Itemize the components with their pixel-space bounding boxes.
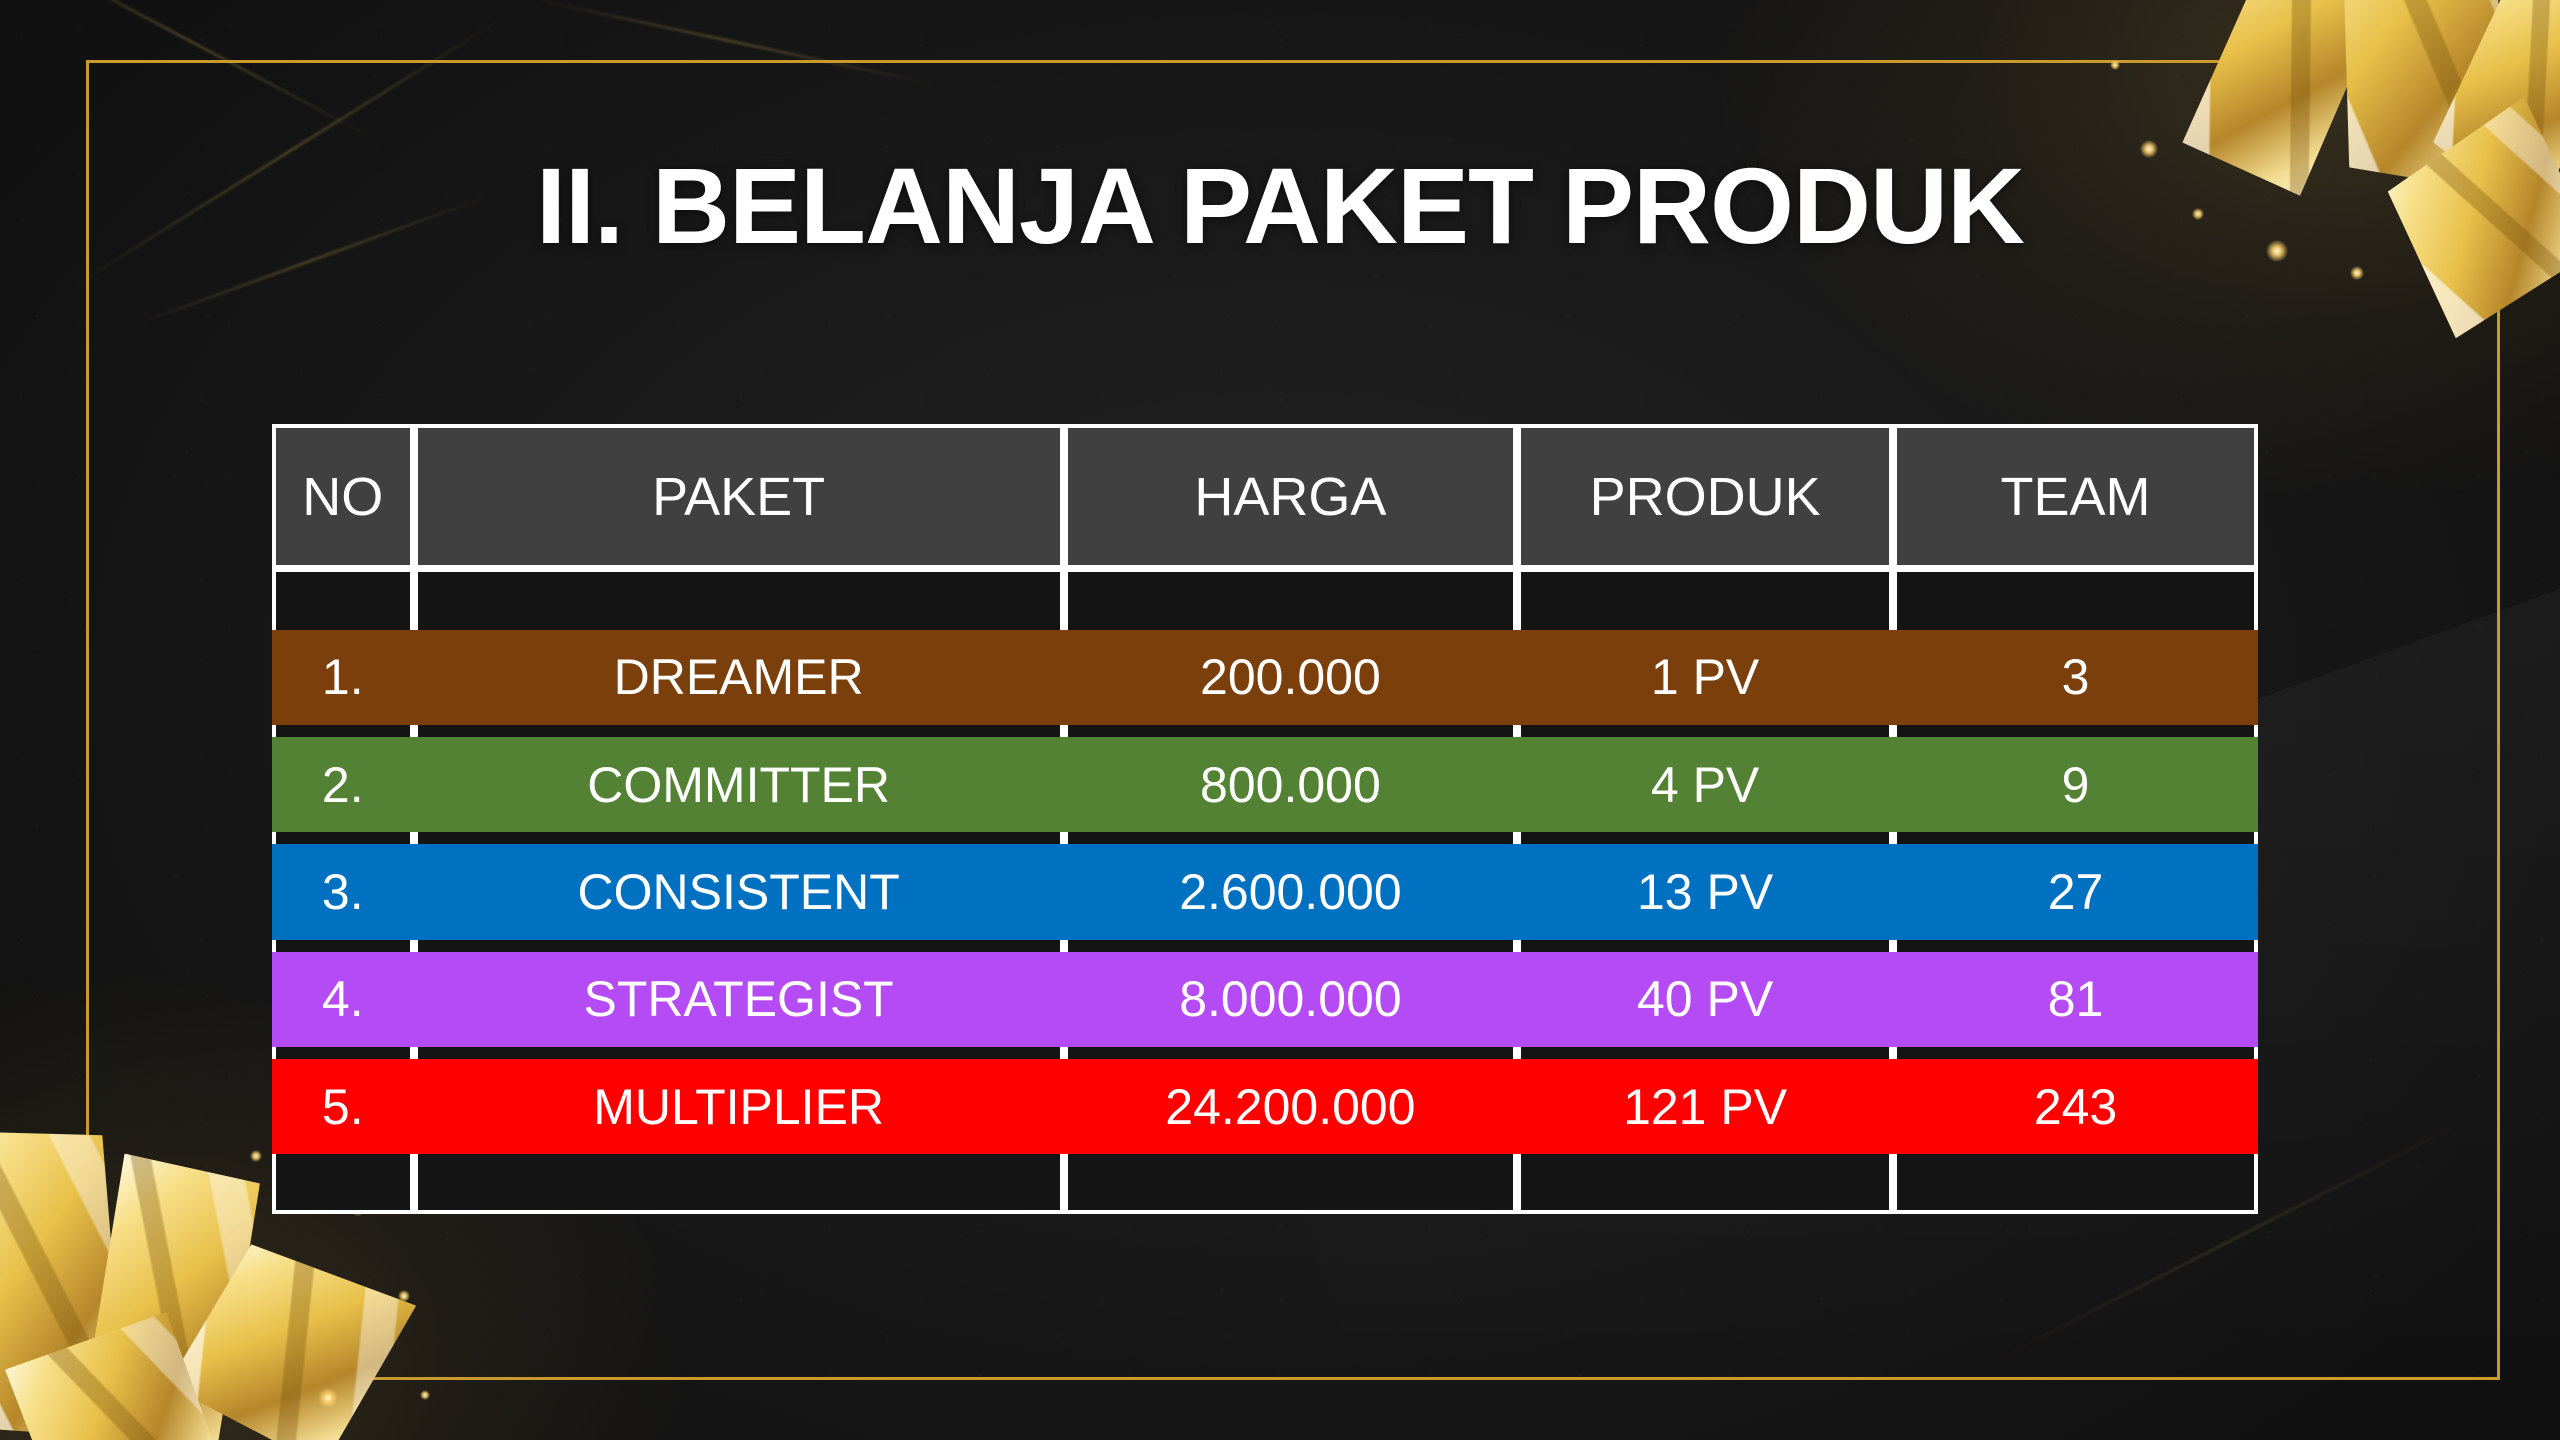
row-color-bar-red: 24.200.000 (1064, 1059, 1517, 1154)
sparkle-icon (398, 1290, 410, 1302)
cell-text: STRATEGIST (584, 974, 894, 1024)
row-color-bar-green: 4 PV (1517, 737, 1893, 832)
cell-text: 81 (2048, 974, 2104, 1024)
cell-harga-row-3: 2.600.000 (1064, 838, 1517, 945)
row-color-bar-purple: STRATEGIST (414, 952, 1064, 1047)
cell-text: 4. (322, 974, 364, 1024)
row-color-bar-red: MULTIPLIER (414, 1059, 1064, 1154)
gold-gem-icon (163, 1226, 416, 1440)
column-header-produk: PRODUK (1517, 424, 1893, 572)
table-spacer-cell-paket (414, 572, 1064, 624)
table-row: 1.DREAMER200.0001 PV3 (272, 624, 2258, 731)
column-header-paket: PAKET (414, 424, 1064, 572)
cell-produk-row-4: 40 PV (1517, 946, 1893, 1053)
cell-text: 9 (2062, 760, 2090, 810)
cell-harga-row-2: 800.000 (1064, 731, 1517, 838)
table-tail-cell-paket (414, 1160, 1064, 1214)
gold-vein (524, 0, 935, 86)
row-color-bar-red: 243 (1893, 1059, 2258, 1154)
row-color-bar-brown: DREAMER (414, 630, 1064, 725)
cell-harga-row-5: 24.200.000 (1064, 1053, 1517, 1160)
cell-text: 800.000 (1200, 760, 1381, 810)
table-tail-row (272, 1160, 2258, 1214)
cell-team-row-2: 9 (1893, 731, 2258, 838)
table-spacer-cell-team (1893, 572, 2258, 624)
table-body: 1.DREAMER200.0001 PV32.COMMITTER800.0004… (272, 572, 2258, 1214)
row-color-bar-brown: 1. (272, 630, 414, 725)
row-color-bar-blue: 2.600.000 (1064, 844, 1517, 939)
row-color-bar-red: 121 PV (1517, 1059, 1893, 1154)
row-color-bar-blue: 27 (1893, 844, 2258, 939)
cell-paket-row-5: MULTIPLIER (414, 1053, 1064, 1160)
cell-paket-row-1: DREAMER (414, 624, 1064, 731)
cell-text: 1. (322, 652, 364, 702)
cell-no-row-2: 2. (272, 731, 414, 838)
cell-produk-row-5: 121 PV (1517, 1053, 1893, 1160)
row-color-bar-green: 9 (1893, 737, 2258, 832)
table-tail-cell-harga (1064, 1160, 1517, 1214)
table-spacer-row (272, 572, 2258, 624)
cell-text: 5. (322, 1082, 364, 1132)
cell-text: MULTIPLIER (593, 1082, 884, 1132)
sparkle-icon (250, 1150, 262, 1162)
table-header: NO PAKET HARGA PRODUK TEAM (272, 424, 2258, 572)
row-color-bar-blue: 13 PV (1517, 844, 1893, 939)
table-tail-cell-no (272, 1160, 414, 1214)
page-title: II. BELANJA PAKET PRODUK (0, 152, 2560, 260)
column-header-no: NO (272, 424, 414, 572)
row-color-bar-brown: 1 PV (1517, 630, 1893, 725)
row-color-bar-purple: 40 PV (1517, 952, 1893, 1047)
table-spacer-cell-produk (1517, 572, 1893, 624)
cell-paket-row-3: CONSISTENT (414, 838, 1064, 945)
table-tail-cell-produk (1517, 1160, 1893, 1214)
row-color-bar-green: 2. (272, 737, 414, 832)
cell-paket-row-4: STRATEGIST (414, 946, 1064, 1053)
cell-text: 243 (2034, 1082, 2117, 1132)
sparkle-icon (2110, 60, 2120, 70)
cell-no-row-4: 4. (272, 946, 414, 1053)
table-row: 4.STRATEGIST8.000.00040 PV81 (272, 946, 2258, 1053)
slide-canvas: II. BELANJA PAKET PRODUK NO PAKET HARGA … (0, 0, 2560, 1440)
cell-harga-row-1: 200.000 (1064, 624, 1517, 731)
cell-text: 2.600.000 (1179, 867, 1401, 917)
cell-no-row-3: 3. (272, 838, 414, 945)
cell-text: 1 PV (1651, 652, 1759, 702)
gold-gem-icon (72, 1152, 261, 1440)
gold-gem-icon (0, 1295, 241, 1440)
column-header-harga: HARGA (1064, 424, 1517, 572)
cell-paket-row-2: COMMITTER (414, 731, 1064, 838)
cell-text: 3 (2062, 652, 2090, 702)
cell-no-row-1: 1. (272, 624, 414, 731)
row-color-bar-blue: 3. (272, 844, 414, 939)
cell-team-row-3: 27 (1893, 838, 2258, 945)
table-header-row: NO PAKET HARGA PRODUK TEAM (272, 424, 2258, 572)
cell-text: 24.200.000 (1165, 1082, 1415, 1132)
paket-produk-table-container: NO PAKET HARGA PRODUK TEAM 1.DREAMER200.… (272, 424, 2258, 1214)
gold-gem-icon (0, 1109, 150, 1440)
cell-produk-row-2: 4 PV (1517, 731, 1893, 838)
cell-text: COMMITTER (587, 760, 890, 810)
row-color-bar-purple: 81 (1893, 952, 2258, 1047)
cell-text: 121 PV (1623, 1082, 1787, 1132)
cell-produk-row-1: 1 PV (1517, 624, 1893, 731)
cell-no-row-5: 5. (272, 1053, 414, 1160)
paket-produk-table: NO PAKET HARGA PRODUK TEAM 1.DREAMER200.… (272, 424, 2258, 1214)
cell-team-row-1: 3 (1893, 624, 2258, 731)
row-color-bar-red: 5. (272, 1059, 414, 1154)
cell-text: DREAMER (614, 652, 864, 702)
table-row: 5.MULTIPLIER24.200.000121 PV243 (272, 1053, 2258, 1160)
row-color-bar-brown: 200.000 (1064, 630, 1517, 725)
row-color-bar-blue: CONSISTENT (414, 844, 1064, 939)
cell-text: 4 PV (1651, 760, 1759, 810)
cell-text: 8.000.000 (1179, 974, 1401, 1024)
table-spacer-cell-harga (1064, 572, 1517, 624)
cell-team-row-4: 81 (1893, 946, 2258, 1053)
cell-text: 27 (2048, 867, 2104, 917)
row-color-bar-purple: 8.000.000 (1064, 952, 1517, 1047)
cell-produk-row-3: 13 PV (1517, 838, 1893, 945)
cell-text: 40 PV (1637, 974, 1773, 1024)
row-color-bar-brown: 3 (1893, 630, 2258, 725)
cell-text: CONSISTENT (578, 867, 900, 917)
table-spacer-cell-no (272, 572, 414, 624)
cell-text: 3. (322, 867, 364, 917)
row-color-bar-purple: 4. (272, 952, 414, 1047)
row-color-bar-green: COMMITTER (414, 737, 1064, 832)
column-header-team: TEAM (1893, 424, 2258, 572)
sparkle-icon (318, 1388, 338, 1408)
cell-team-row-5: 243 (1893, 1053, 2258, 1160)
cell-text: 2. (322, 760, 364, 810)
row-color-bar-green: 800.000 (1064, 737, 1517, 832)
cell-text: 200.000 (1200, 652, 1381, 702)
table-row: 2.COMMITTER800.0004 PV9 (272, 731, 2258, 838)
cell-harga-row-4: 8.000.000 (1064, 946, 1517, 1053)
gold-vein (4, 0, 376, 140)
sparkle-icon (420, 1390, 430, 1400)
cell-text: 13 PV (1637, 867, 1773, 917)
table-tail-cell-team (1893, 1160, 2258, 1214)
sparkle-icon (2350, 266, 2364, 280)
table-row: 3.CONSISTENT2.600.00013 PV27 (272, 838, 2258, 945)
